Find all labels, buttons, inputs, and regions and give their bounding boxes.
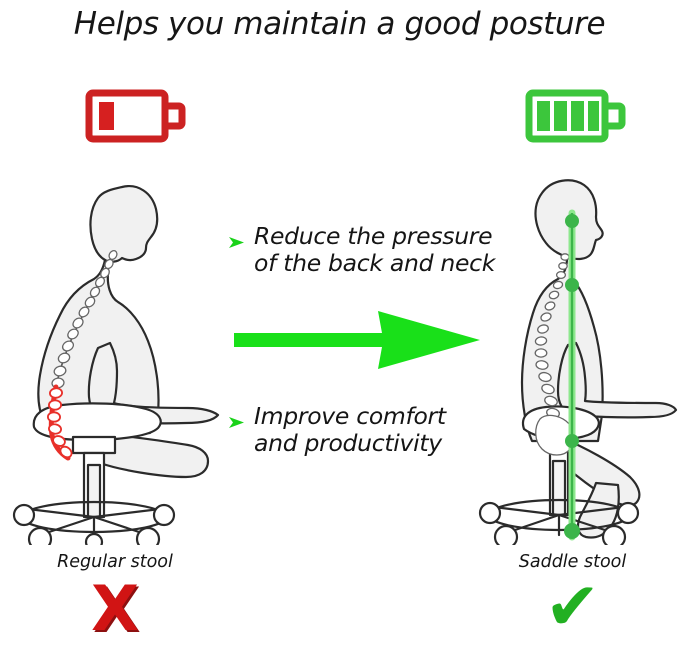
cross-icon: X [91, 572, 139, 645]
benefit-text-1: Reduce the pressure of the back and neck [254, 223, 495, 278]
battery-full-icon [524, 86, 628, 152]
benefit-item-1: Reduce the pressure of the back and neck [228, 223, 508, 278]
check-icon: ✔ [545, 568, 600, 645]
left-caption: Regular stool [10, 552, 220, 572]
battery-low-icon [84, 86, 188, 152]
green-triangle-bullet-icon [228, 414, 245, 433]
right-arrow-icon [232, 305, 482, 379]
benefit-item-2: Improve comfort and productivity [228, 403, 503, 458]
green-triangle-bullet-icon [228, 234, 245, 253]
page-title: Helps you maintain a good posture [0, 6, 679, 42]
right-verdict-check: ✔ [470, 574, 675, 640]
posture-comparison-poster: Helps you maintain a good posture [0, 0, 679, 646]
left-verdict-cross: X [10, 578, 220, 640]
hunched-posture-figure [10, 165, 225, 549]
benefit-text-2: Improve comfort and productivity [254, 403, 446, 458]
